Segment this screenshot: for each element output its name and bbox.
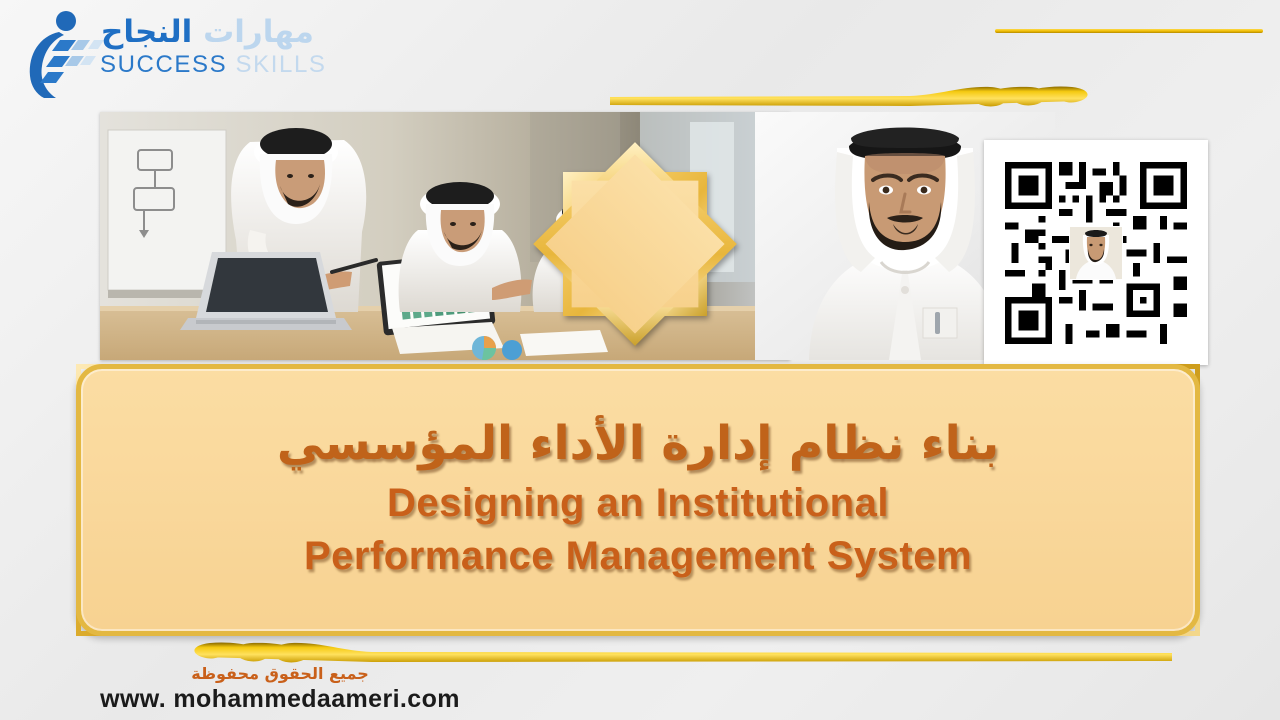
running-person-logo-icon xyxy=(14,10,106,98)
presentation-slide: مهارات النجاح SUCCESS SKILLS xyxy=(0,0,1280,720)
brand-logo-text: مهارات النجاح SUCCESS SKILLS xyxy=(100,16,314,79)
brand-name-english-faded: SKILLS xyxy=(236,51,327,78)
brand-name-arabic-faded: مهارات xyxy=(203,14,314,50)
brand-logo[interactable]: مهارات النجاح SUCCESS SKILLS xyxy=(14,10,314,102)
brand-name-english-strong: SUCCESS xyxy=(100,51,227,78)
footer-copyright-arabic: جميع الحقوق محفوظة xyxy=(0,664,560,683)
hero-media-band xyxy=(100,112,1212,360)
gold-rule-top xyxy=(995,29,1263,33)
qr-embedded-avatar xyxy=(1069,226,1123,280)
footer: جميع الحقوق محفوظة www. mohammedaameri.c… xyxy=(0,664,560,714)
qr-code-card[interactable] xyxy=(984,140,1208,365)
qr-code[interactable] xyxy=(998,155,1194,351)
brand-name-arabic-strong: النجاح xyxy=(101,14,192,50)
footer-website-url[interactable]: www. mohammedaameri.com xyxy=(0,685,560,714)
eight-point-star-badge xyxy=(532,124,738,364)
brand-name-arabic: مهارات النجاح xyxy=(100,16,314,49)
title-panel: بناء نظام إدارة الأداء المؤسسي Designing… xyxy=(76,364,1200,636)
title-english-line1: Designing an Institutional xyxy=(387,477,889,530)
title-arabic: بناء نظام إدارة الأداء المؤسسي xyxy=(277,417,999,471)
brand-name-english: SUCCESS SKILLS xyxy=(100,51,314,79)
title-english-line2: Performance Management System xyxy=(304,530,972,583)
